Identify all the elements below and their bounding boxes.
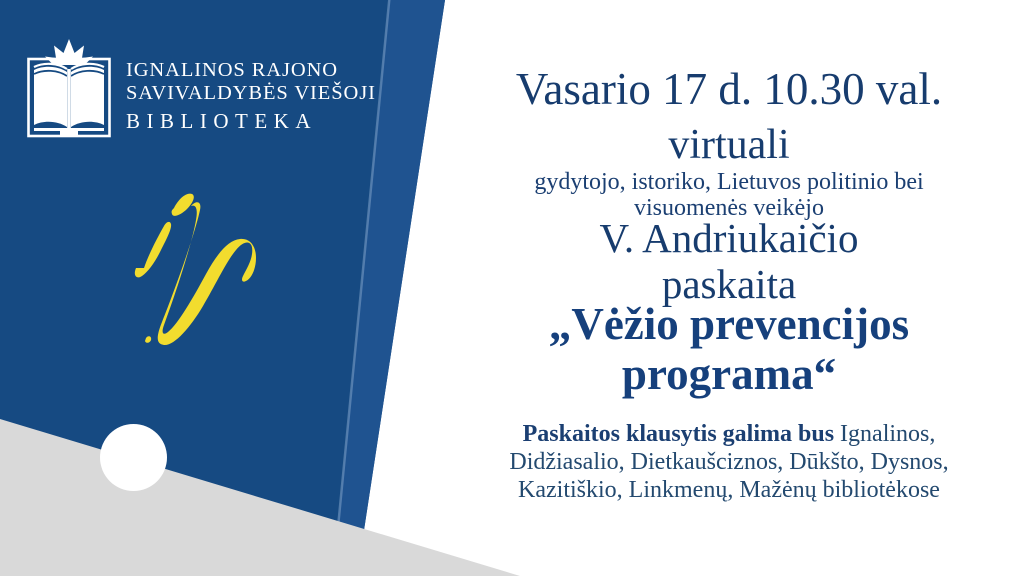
locations-first-place: Ignalinos,	[840, 421, 935, 447]
locations-line-2: Didžiasalio, Dietkaušciznos, Dūkšto, Dys…	[448, 448, 1010, 476]
logo-wordmark: IGNALINOS RAJONO SAVIVALDYBĖS VIEŠOJI BI…	[126, 37, 376, 134]
logo-line-1: IGNALINOS RAJONO	[126, 59, 376, 83]
lecture-title-line-1: „Vėžio prevencijos	[440, 300, 1018, 350]
open-book-with-crown-icon	[26, 31, 112, 139]
speaker-description-line-1: gydytojo, istoriko, Lietuvos politinio b…	[440, 170, 1018, 196]
event-date-line: Vasario 17 d. 10.30 val.	[440, 66, 1018, 112]
lecture-title: „Vėžio prevencijos programa“	[440, 300, 1018, 399]
locations-line-1: Paskaitos klausytis galima bus Ignalinos…	[448, 420, 1010, 448]
locations-line-3: Kazitiškio, Linkmenų, Mažėnų bibliotėkos…	[448, 476, 1010, 504]
logo-line-2: SAVIVALDYBĖS VIEŠOJI	[126, 82, 376, 106]
speaker-name-line: V. Andriukaičio	[440, 215, 1018, 261]
event-format-line: virtuali	[440, 124, 1018, 167]
poster-canvas: IGNALINOS RAJONO SAVIVALDYBĖS VIEŠOJI BI…	[0, 0, 1024, 576]
yellow-brush-stroke-icon	[86, 182, 286, 382]
lecture-title-line-2: programa“	[440, 350, 1018, 400]
speaker-name: V. Andriukaičio paskaita	[440, 215, 1018, 308]
white-circle	[100, 424, 167, 491]
event-format: virtuali	[440, 124, 1018, 167]
library-logo: IGNALINOS RAJONO SAVIVALDYBĖS VIEŠOJI BI…	[26, 31, 376, 139]
locations-lead-in: Paskaitos klausytis galima bus	[523, 421, 840, 447]
logo-line-3: BIBLIOTEKA	[126, 109, 376, 133]
poster-content: Vasario 17 d. 10.30 val. virtuali gydyto…	[440, 0, 1018, 576]
locations-note: Paskaitos klausytis galima bus Ignalinos…	[448, 420, 1010, 504]
event-date-time: Vasario 17 d. 10.30 val.	[440, 66, 1018, 112]
